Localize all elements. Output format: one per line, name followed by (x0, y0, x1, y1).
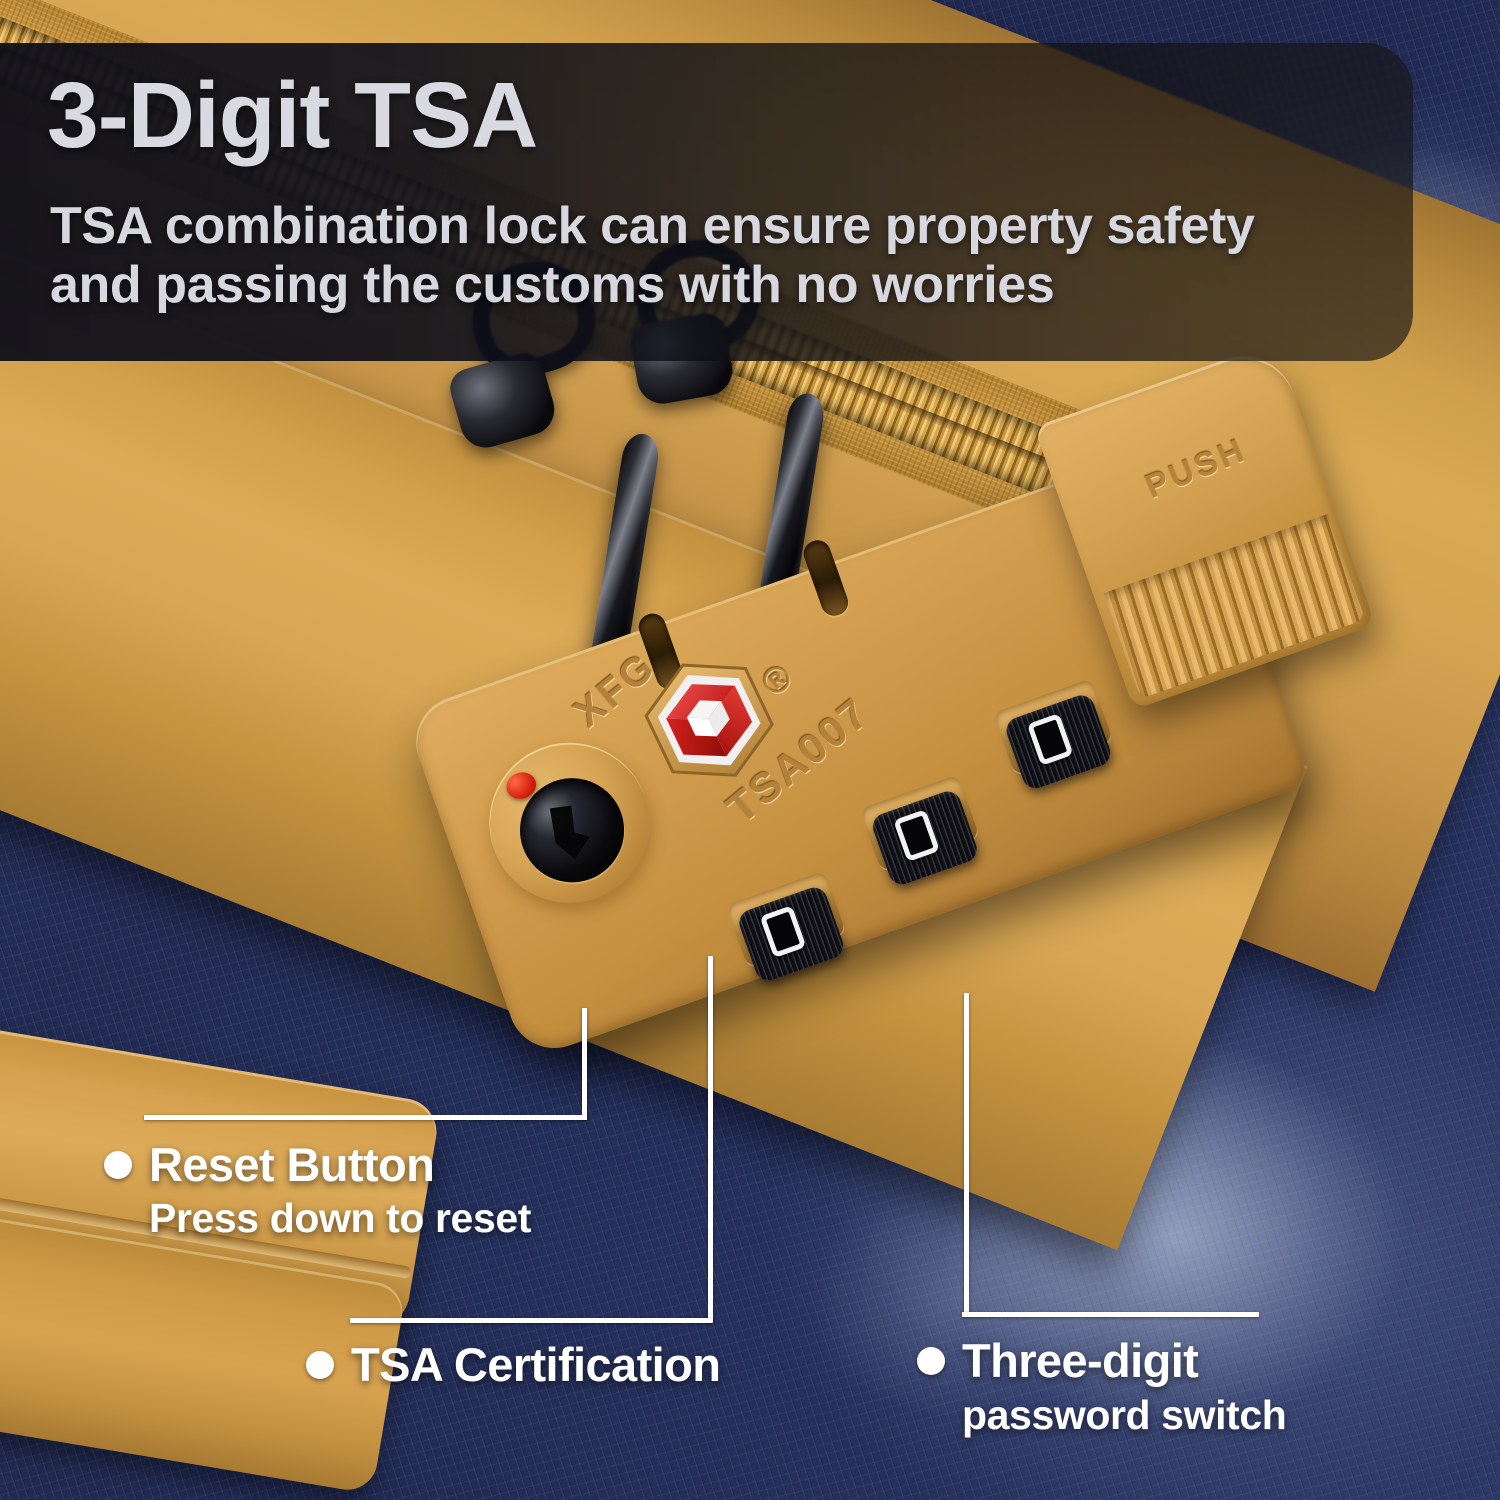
bullet-icon (306, 1351, 334, 1379)
subtitle-line-1: TSA combination lock can ensure property… (50, 197, 1390, 256)
dial-digit-window (1027, 713, 1074, 766)
product-infographic: PUSH XFG TSA007 ® (0, 0, 1500, 1500)
page-title: 3-Digit TSA (47, 69, 537, 162)
callout-three-title: Three-digit (962, 1333, 1198, 1388)
leader-line-reset-horizontal (144, 1115, 587, 1120)
leader-line-dials-horizontal (962, 1312, 1259, 1317)
dial-digit-window (893, 809, 940, 862)
callout-reset-button: Reset Button Press down to reset (104, 1137, 531, 1242)
callout-tsa-certification: TSA Certification (306, 1337, 720, 1392)
page-subtitle: TSA combination lock can ensure property… (50, 197, 1390, 316)
callout-three-title-row: Three-digit (917, 1333, 1286, 1388)
dial-digit-window (760, 905, 807, 958)
bullet-icon (917, 1347, 945, 1375)
callout-reset-title: Reset Button (149, 1137, 434, 1192)
callout-three-subtitle: password switch (962, 1392, 1286, 1439)
callout-reset-title-row: Reset Button (104, 1137, 531, 1192)
push-grip-ridges (1103, 514, 1365, 699)
callout-three-digit-switch: Three-digit password switch (917, 1333, 1286, 1439)
subtitle-line-2: and passing the customs with no worries (50, 256, 1390, 315)
callout-tsa-title-row: TSA Certification (306, 1337, 720, 1392)
bullet-icon (104, 1151, 132, 1179)
callout-reset-subtitle: Press down to reset (149, 1195, 531, 1242)
leader-line-tsa-vertical (708, 956, 713, 1321)
leader-line-dials-vertical (964, 993, 969, 1315)
leader-line-tsa-horizontal (350, 1318, 713, 1323)
push-label: PUSH (1140, 431, 1252, 507)
leader-line-reset-vertical (582, 1008, 587, 1120)
callout-tsa-title: TSA Certification (351, 1337, 720, 1392)
